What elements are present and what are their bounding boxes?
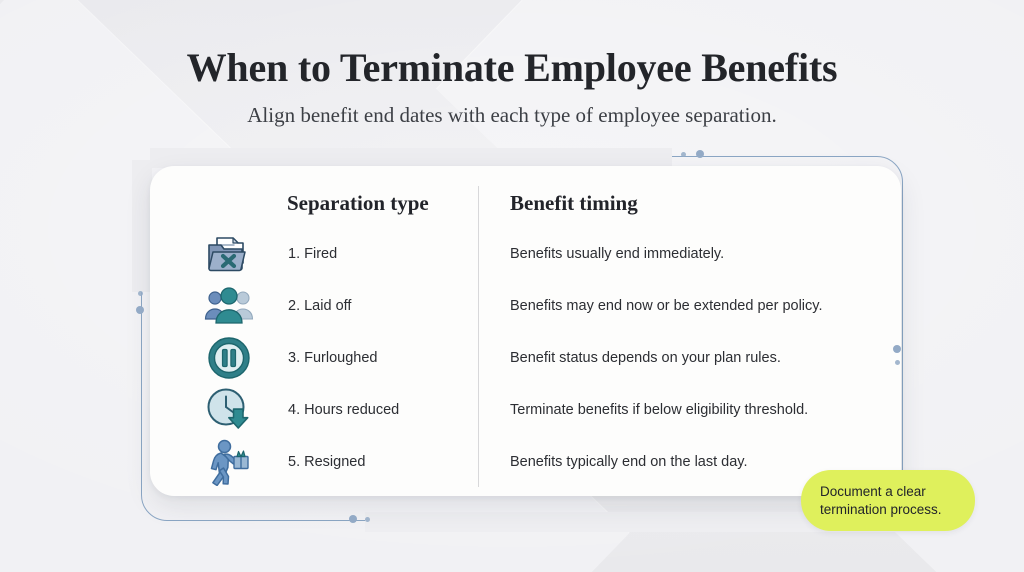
separation-label: 5. Resigned bbox=[288, 452, 365, 472]
separation-label: 1. Fired bbox=[288, 244, 337, 264]
page-subtitle: Align benefit end dates with each type o… bbox=[0, 101, 1024, 129]
separation-label: 3. Furloughed bbox=[288, 348, 377, 368]
table-row: 3. Furloughed Benefit status depends on … bbox=[150, 332, 901, 384]
header: When to Terminate Employee Benefits Alig… bbox=[0, 44, 1024, 129]
folder-document-x-icon bbox=[202, 229, 256, 279]
clock-down-arrow-icon bbox=[202, 385, 256, 435]
timing-label: Terminate benefits if below eligibility … bbox=[510, 400, 808, 420]
pause-circle-icon bbox=[202, 333, 256, 383]
column-header-benefit-timing: Benefit timing bbox=[510, 190, 638, 216]
group-people-icon bbox=[202, 281, 256, 331]
timing-label: Benefits usually end immediately. bbox=[510, 244, 724, 264]
frame-mask-top bbox=[150, 148, 672, 168]
table-header-row: Separation type Benefit timing bbox=[150, 190, 901, 224]
table-row: 5. Resigned Benefits typically end on th… bbox=[150, 436, 901, 488]
callout-text: Document a clear termination process. bbox=[820, 483, 956, 519]
decorative-dot-left-small bbox=[138, 291, 143, 296]
decorative-dot-bottom-small bbox=[365, 517, 370, 522]
decorative-dot-top-large bbox=[696, 150, 704, 158]
page-title: When to Terminate Employee Benefits bbox=[0, 44, 1024, 92]
callout-badge: Document a clear termination process. bbox=[801, 470, 975, 531]
column-header-separation-type: Separation type bbox=[287, 190, 429, 216]
table-row: 2. Laid off Benefits may end now or be e… bbox=[150, 280, 901, 332]
decorative-dot-bottom-large bbox=[349, 515, 357, 523]
decorative-dot-top-small bbox=[681, 152, 686, 157]
timing-label: Benefits may end now or be extended per … bbox=[510, 296, 822, 316]
timing-label: Benefits typically end on the last day. bbox=[510, 452, 748, 472]
separation-benefits-table: Separation type Benefit timing bbox=[150, 166, 901, 496]
table-row: 1. Fired Benefits usually end immediatel… bbox=[150, 228, 901, 280]
decorative-dot-left-large bbox=[136, 306, 144, 314]
timing-label: Benefit status depends on your plan rule… bbox=[510, 348, 781, 368]
separation-label: 2. Laid off bbox=[288, 296, 351, 316]
separation-label: 4. Hours reduced bbox=[288, 400, 399, 420]
table-row: 4. Hours reduced Terminate benefits if b… bbox=[150, 384, 901, 436]
frame-mask-left bbox=[132, 160, 152, 292]
walking-person-box-icon bbox=[202, 437, 256, 487]
slide-canvas: When to Terminate Employee Benefits Alig… bbox=[0, 0, 1024, 572]
